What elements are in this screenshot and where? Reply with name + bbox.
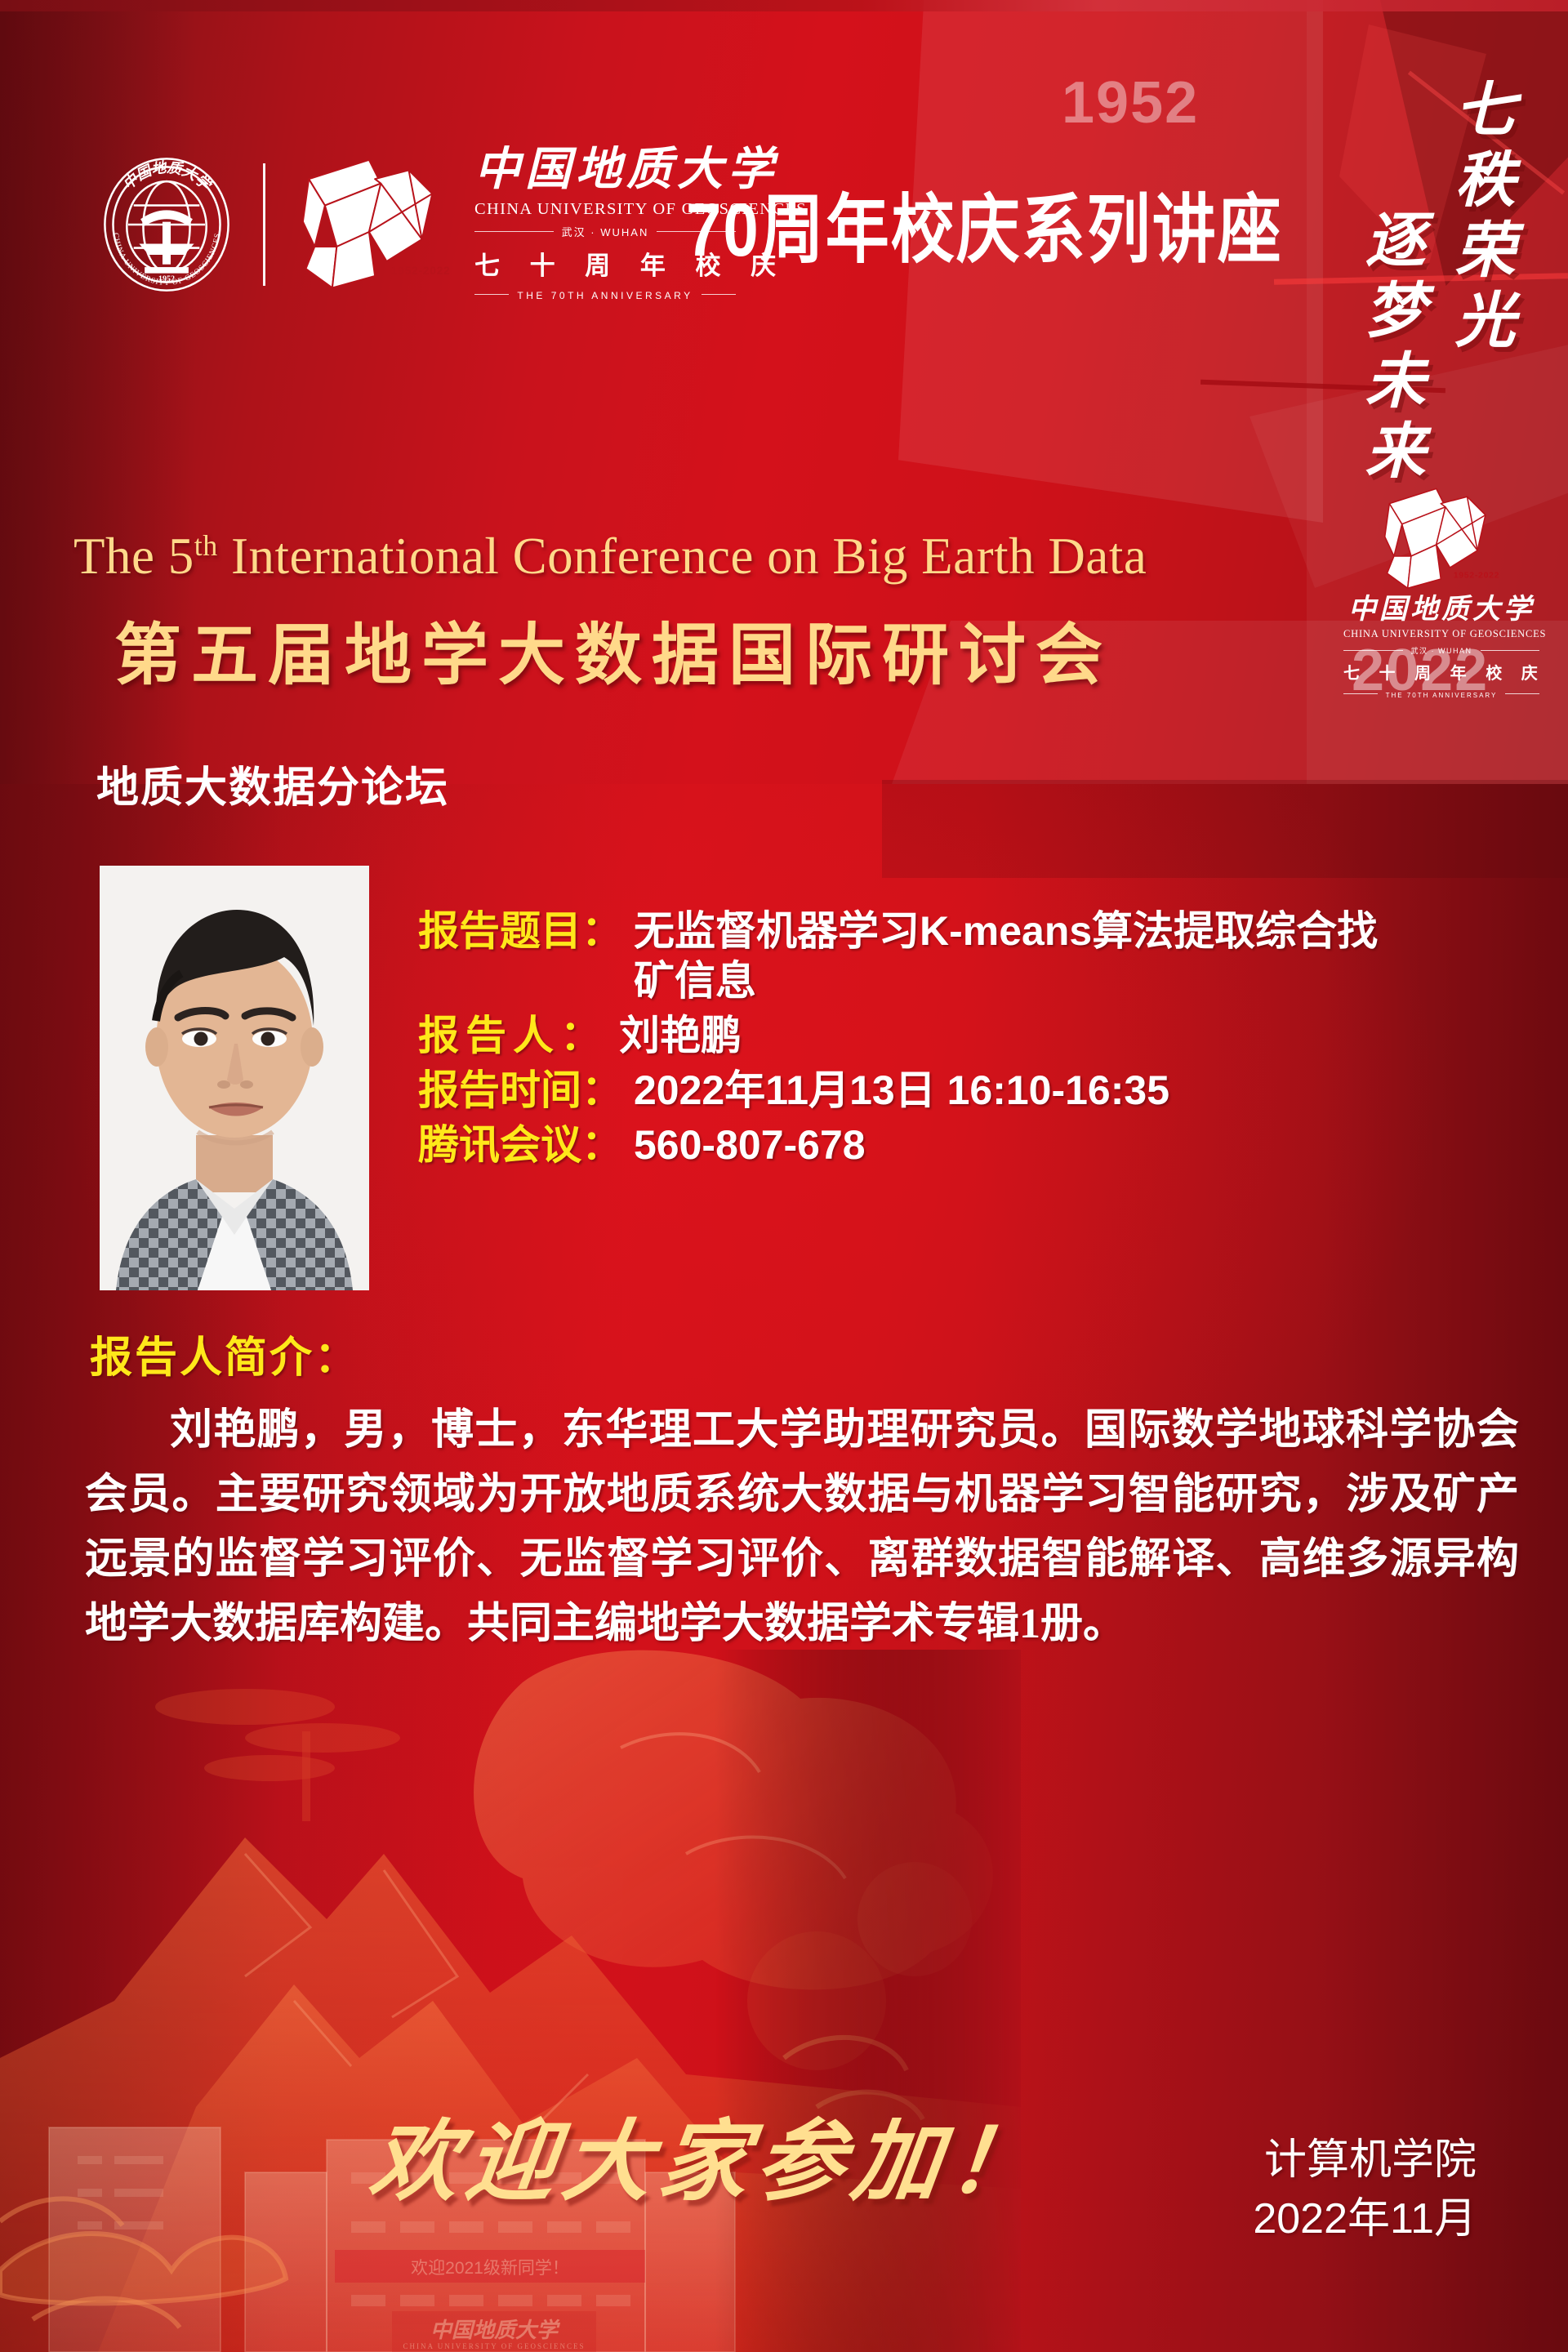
svg-text:1952-2022: 1952-2022 [1454, 571, 1500, 581]
bio-text: 刘艳鹏，男，博士，东华理工大学助理研究员。国际数学地球科学协会会员。主要研究领域… [85, 1398, 1519, 1656]
anniversary-mark-secondary: 1952-2022 中国地质大学 CHINA UNIVERSITY OF GEO… [1343, 482, 1539, 699]
calligraphy-qizhi-rongguang: 七秩荣光 [1436, 78, 1523, 359]
talk-value-time: 2022年11月13日 16:10-16:35 [634, 1066, 1169, 1116]
rule-left-3 [1343, 650, 1403, 651]
talk-value-meeting: 560-807-678 [634, 1120, 866, 1170]
calligraphy-zhumeng-weilai: 逐梦未来 [1346, 208, 1433, 489]
subforum-title: 地质大数据分论坛 [96, 753, 449, 814]
wordmark-small-campus: 武汉 · WUHAN [1403, 645, 1481, 656]
svg-text:CHINA UNIVERSITY OF GEOSCIENCE: CHINA UNIVERSITY OF GEOSCIENCES [403, 2342, 586, 2350]
wordmark-small-anniv-rule: THE 70TH ANNIVERSARY [1343, 688, 1539, 699]
campus-illustration-watermark: 欢迎2021级新同学！ 中国地质大学 CHINA UNIVERSITY OF G… [0, 1650, 1021, 2352]
talk-label-title: 报告题目： [418, 906, 622, 956]
anniversary-70-mark-icon: 1952-2022 [298, 151, 453, 298]
rule-left [474, 231, 554, 232]
svg-text:中国地质大学: 中国地质大学 [120, 158, 216, 194]
talk-row-time: 报告时间： 2022年11月13日 16:10-16:35 [418, 1066, 1529, 1116]
lecture-series-title: 70周年校庆系列讲座 [686, 170, 1283, 278]
university-seal-icon: 1952 CHINA UNIVERSITY OF GEOSCIENCES 中国地… [98, 156, 235, 293]
poster-root: 欢迎2021级新同学！ 中国地质大学 CHINA UNIVERSITY OF G… [0, 0, 1568, 2352]
talk-row-title: 报告题目： 无监督机器学习K-means算法提取综合找矿信息 [418, 906, 1529, 1006]
conference-title-en-post: International Conference on Big Earth Da… [218, 528, 1147, 585]
conference-title-en-pre: The 5 [73, 528, 194, 585]
talk-label-meeting: 腾讯会议： [418, 1120, 622, 1170]
speaker-portrait-image [100, 866, 369, 1290]
wordmark-small-name-cn: 中国地质大学 [1343, 596, 1539, 624]
bg-top-strip [0, 0, 1568, 11]
bg-banner-bottom [882, 780, 1568, 878]
talk-info-block: 报告题目： 无监督机器学习K-means算法提取综合找矿信息 报告人： 刘艳鹏 … [418, 906, 1529, 1175]
conference-title-cn: 第五届地学大数据国际研讨会 [114, 600, 1112, 697]
svg-text:1952-2022: 1952-2022 [391, 265, 451, 277]
rule-right-3 [1481, 650, 1540, 651]
wordmark-small-anniversary-cn: 七 十 周 年 校 庆 [1343, 660, 1539, 684]
logo-divider [263, 163, 265, 286]
header-logo-row: 1952 CHINA UNIVERSITY OF GEOSCIENCES 中国地… [98, 147, 736, 301]
footer-date: 2022年11月 [1253, 2190, 1477, 2249]
talk-row-meeting: 腾讯会议： 560-807-678 [418, 1120, 1529, 1170]
talk-label-time: 报告时间： [418, 1066, 622, 1116]
conference-title-en-ordinal: th [194, 529, 218, 562]
wordmark-anniversary-en: THE 70TH ANNIVERSARY [509, 290, 701, 301]
svg-text:中国地质大学: 中国地质大学 [430, 2319, 561, 2342]
footer-organizer: 计算机学院 [1253, 2131, 1477, 2190]
anniversary-70-mark-icon-small: 1952-2022 [1380, 482, 1503, 596]
talk-value-title: 无监督机器学习K-means算法提取综合找矿信息 [634, 906, 1418, 1006]
talk-value-speaker: 刘艳鹏 [619, 1011, 742, 1061]
bio-heading: 报告人简介： [90, 1323, 359, 1384]
wordmark-small-name-en: CHINA UNIVERSITY OF GEOSCIENCES [1343, 628, 1539, 640]
talk-label-speaker: 报告人： [418, 1011, 608, 1061]
conference-title-en: The 5th International Conference on Big … [73, 527, 1147, 586]
welcome-callout: 欢迎大家参加！ [363, 2091, 1053, 2218]
speaker-portrait [100, 866, 369, 1290]
wordmark-small-anniversary-en: THE 70TH ANNIVERSARY [1378, 692, 1506, 699]
rule-left-2 [474, 294, 509, 295]
wordmark-campus: 武汉 · WUHAN [554, 224, 657, 239]
wordmark-anniv-rule: THE 70TH ANNIVERSARY [474, 287, 736, 301]
rule-left-4 [1343, 693, 1378, 694]
talk-row-speaker: 报告人： 刘艳鹏 [418, 1011, 1529, 1061]
rule-right-2 [702, 294, 736, 295]
footer-block: 计算机学院 2022年11月 [1253, 2131, 1477, 2249]
rule-right-4 [1505, 693, 1539, 694]
wordmark-small-campus-rule: 武汉 · WUHAN [1343, 645, 1539, 656]
svg-text:欢迎2021级新同学！: 欢迎2021级新同学！ [411, 2259, 569, 2278]
year-1952-label: 1952 [1062, 69, 1199, 136]
